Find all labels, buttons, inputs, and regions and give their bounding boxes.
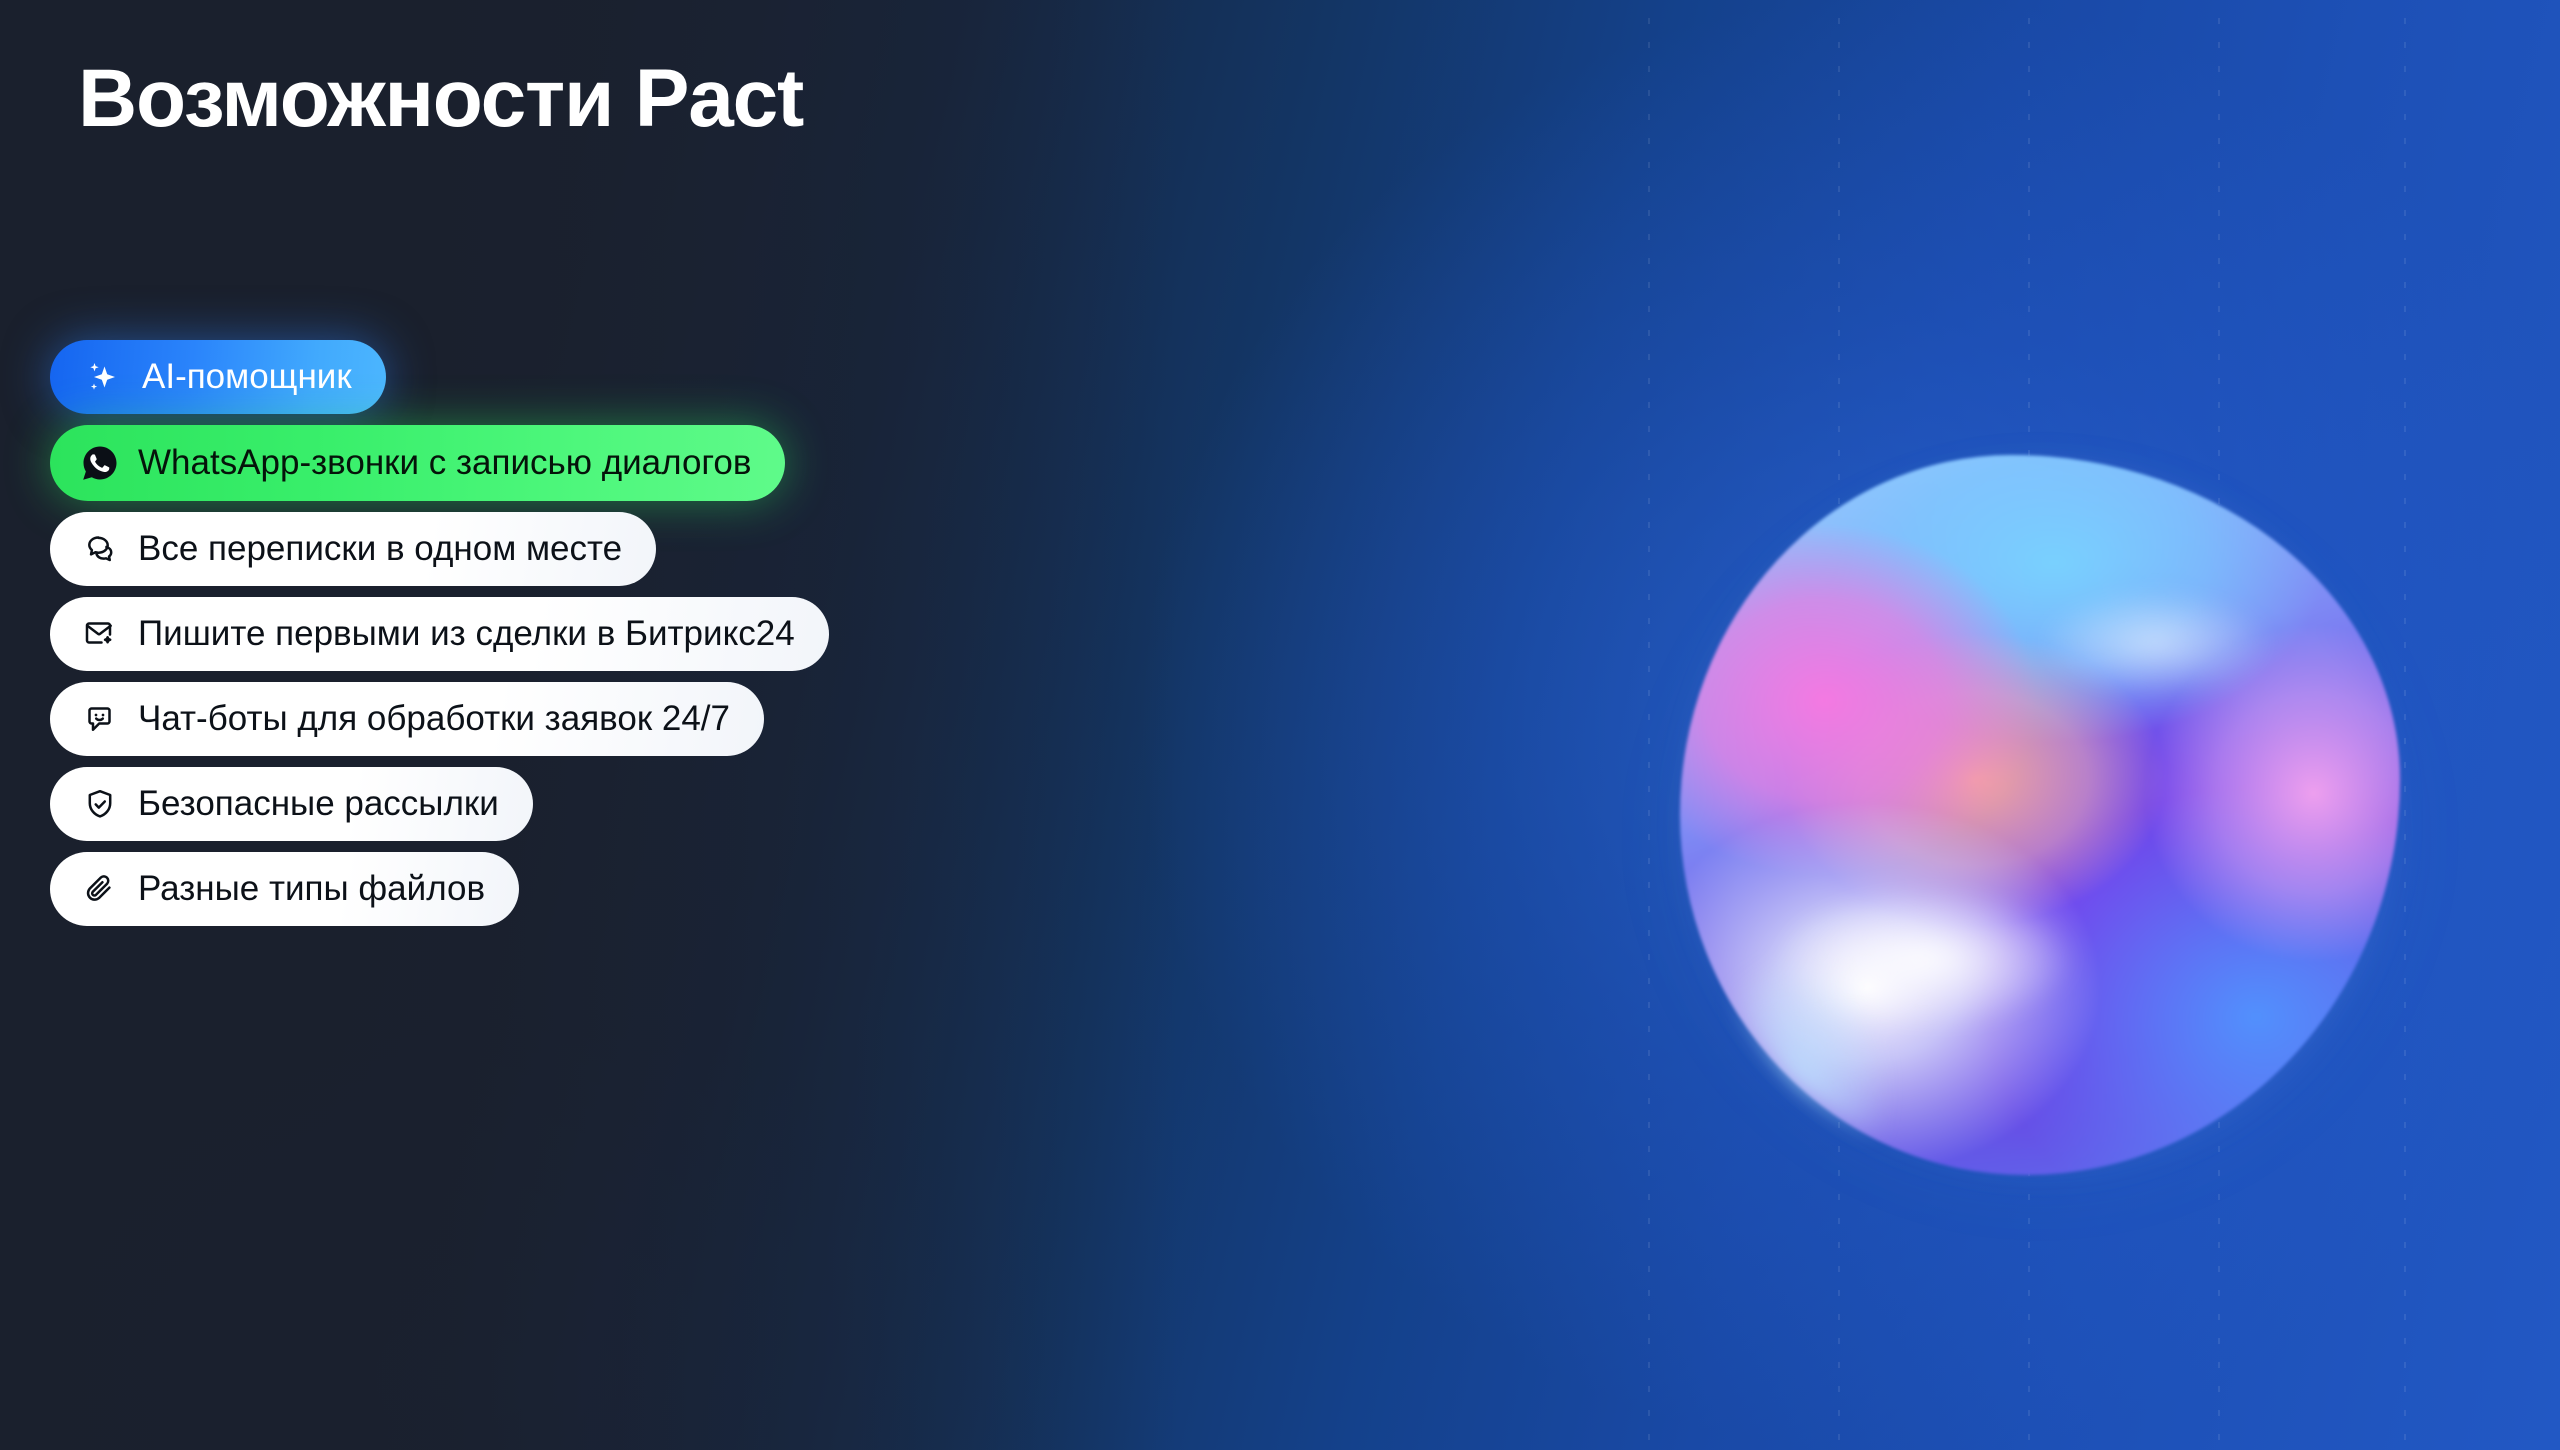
sparkles-icon [84,357,124,397]
feature-pill-label: Безопасные рассылки [138,786,499,821]
feature-pill-label: WhatsApp-звонки с записью диалогов [138,445,751,480]
promo-banner: Возможности Pact AI-помощникWhatsApp-зво… [0,0,2560,1450]
chat-smile-icon [80,699,120,739]
feature-pill-chat-bots[interactable]: Чат-боты для обработки заявок 24/7 [50,682,764,756]
paperclip-icon [80,869,120,909]
feature-pill-label: Пишите первыми из сделки в Битрикс24 [138,616,795,651]
whatsapp-icon [80,443,120,483]
feature-pill-bitrix-first-message[interactable]: Пишите первыми из сделки в Битрикс24 [50,597,829,671]
feature-pill-secure-mailings[interactable]: Безопасные рассылки [50,767,533,841]
shield-check-icon [80,784,120,824]
chat-bubbles-icon [80,529,120,569]
feature-pill-list: AI-помощникWhatsApp-звонки с записью диа… [50,340,829,926]
feature-pill-ai-assistant[interactable]: AI-помощник [50,340,386,414]
feature-pill-whatsapp-calls[interactable]: WhatsApp-звонки с записью диалогов [50,425,785,501]
feature-pill-all-chats[interactable]: Все переписки в одном месте [50,512,656,586]
feature-pill-label: Разные типы файлов [138,871,485,906]
mail-sparkle-icon [80,614,120,654]
page-title: Возможности Pact [78,58,803,140]
feature-pill-label: AI-помощник [142,359,352,394]
feature-pill-label: Чат-боты для обработки заявок 24/7 [138,701,730,736]
feature-pill-file-types[interactable]: Разные типы файлов [50,852,519,926]
feature-pill-label: Все переписки в одном месте [138,531,622,566]
